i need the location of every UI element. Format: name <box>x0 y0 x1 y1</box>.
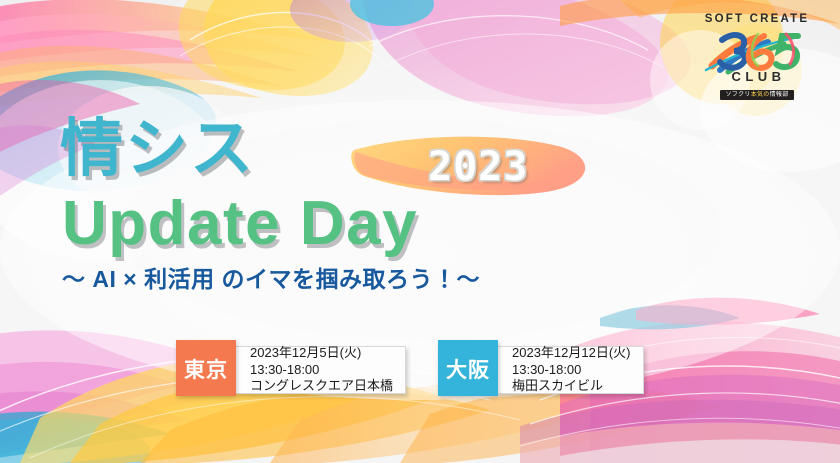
event-venue: 梅田スカイビル <box>512 378 631 395</box>
logo-tagline-suffix: 情報部 <box>770 92 789 98</box>
page-title-jp: 情シス <box>60 118 255 181</box>
event-details-tokyo: 2023年12月5日(火) 13:30-18:00 コングレスクエア日本橋 <box>236 346 406 394</box>
city-tag-label: 東京 <box>184 354 228 384</box>
event-card-osaka[interactable]: 大阪 2023年12月12日(火) 13:30-18:00 梅田スカイビル <box>438 346 644 394</box>
city-tag-label: 大阪 <box>446 354 490 384</box>
event-date: 2023年12月5日(火) <box>250 345 393 362</box>
year-text: 2023 <box>428 147 528 187</box>
logo-tagline-prefix: ソフクリ <box>725 92 750 98</box>
event-card-tokyo[interactable]: 東京 2023年12月5日(火) 13:30-18:00 コングレスクエア日本橋 <box>176 346 406 394</box>
event-time: 13:30-18:00 <box>512 362 631 379</box>
logo-tagline: ソフクリ本気の情報部 <box>720 90 793 100</box>
logo-tagline-highlight: 本気の <box>751 92 770 98</box>
banner-canvas: SOFT CREATE <box>0 0 840 463</box>
event-time: 13:30-18:00 <box>250 362 393 379</box>
page-subtitle: 〜 AI × 利活用 のイマを掴み取ろう！〜 <box>62 264 480 295</box>
event-details-osaka: 2023年12月12日(火) 13:30-18:00 梅田スカイビル <box>498 346 644 394</box>
page-title-en: Update Day <box>62 193 418 255</box>
brand-logo: SOFT CREATE <box>698 14 816 110</box>
city-tag-osaka: 大阪 <box>438 340 498 396</box>
city-tag-tokyo: 東京 <box>176 340 236 396</box>
logo-365-mark <box>698 24 816 74</box>
event-date: 2023年12月12日(火) <box>512 345 631 362</box>
event-venue: コングレスクエア日本橋 <box>250 378 393 395</box>
